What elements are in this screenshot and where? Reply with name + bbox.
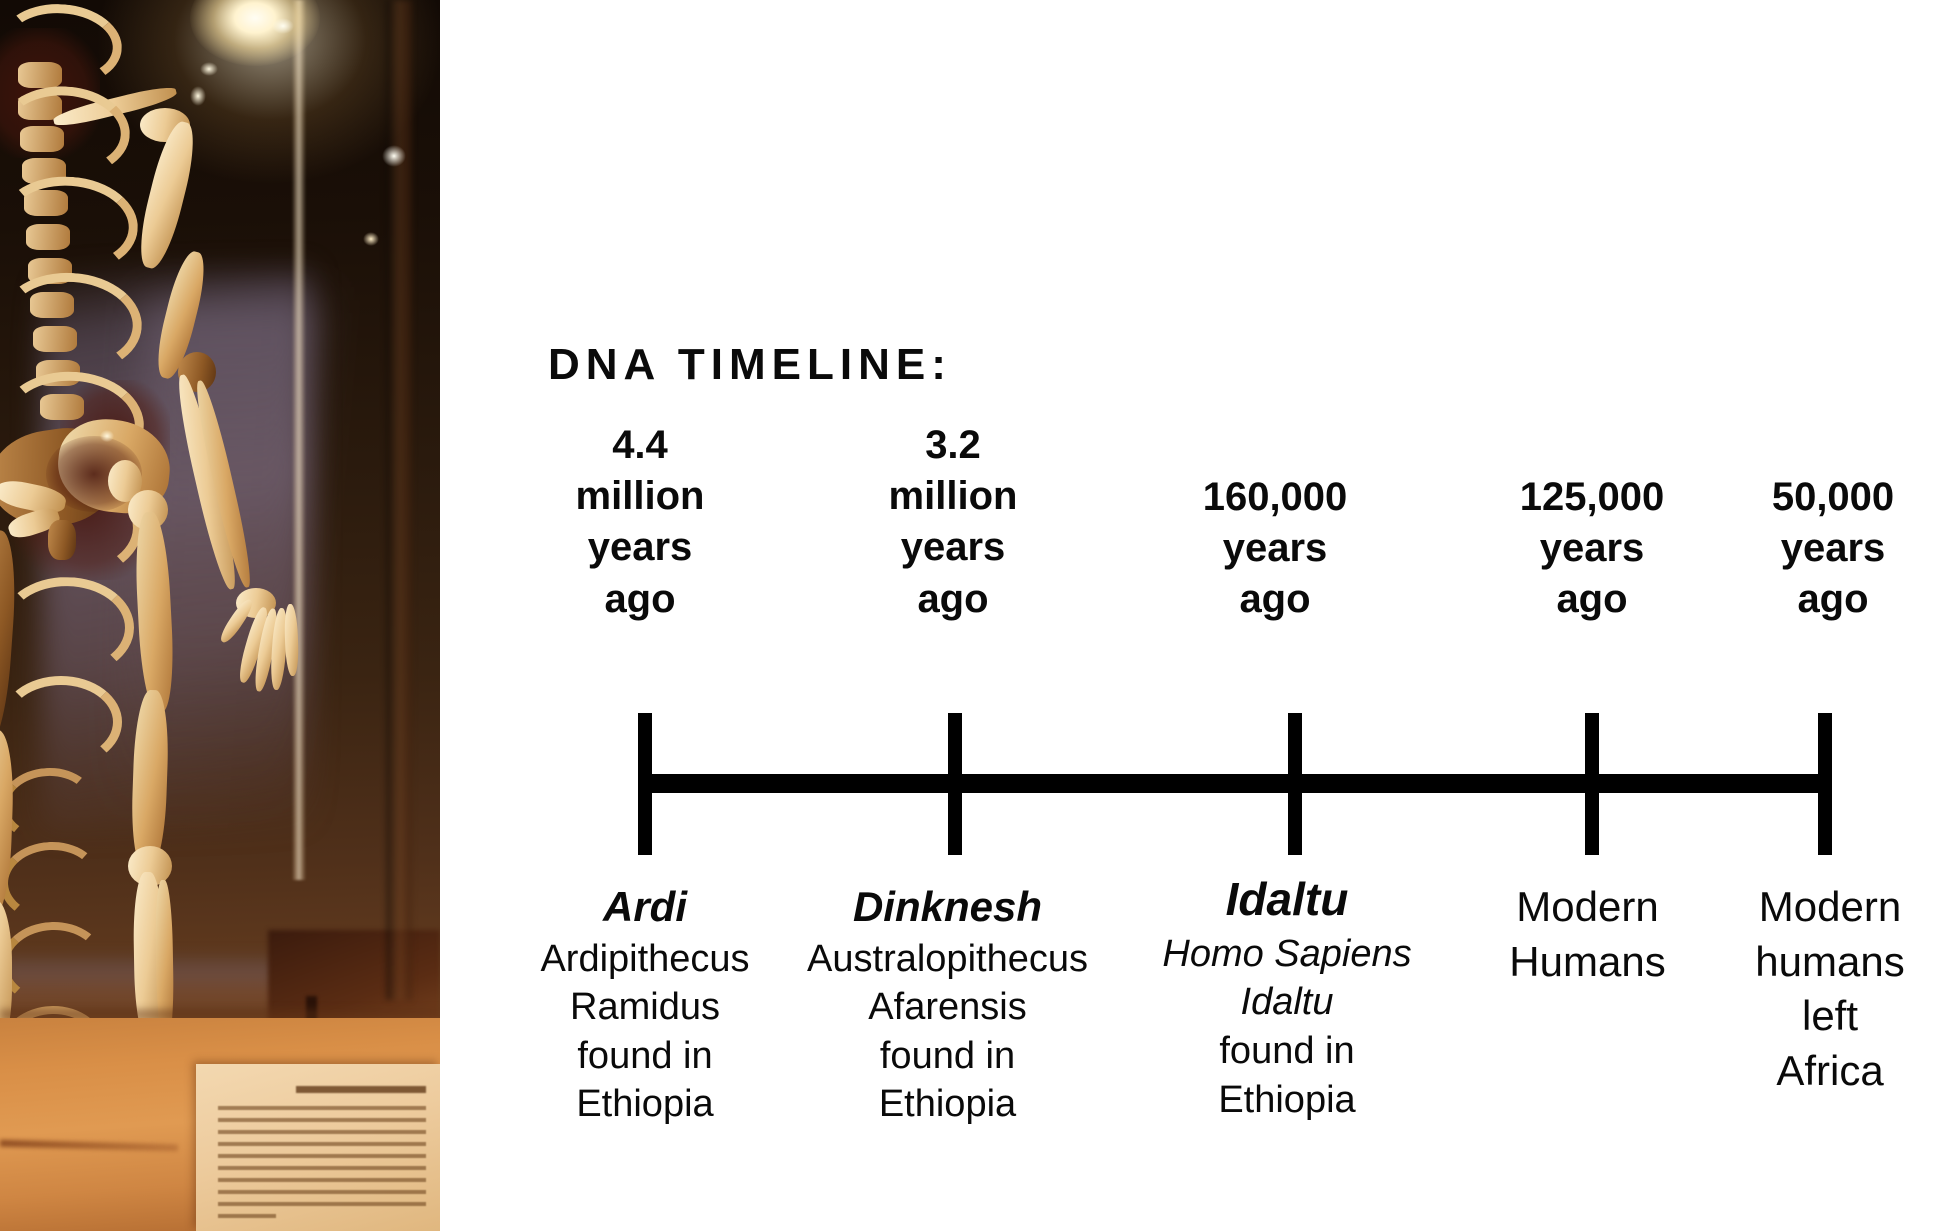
rib-left — [0, 765, 98, 846]
glass-glare-spot — [382, 145, 406, 167]
timeline-axis — [645, 774, 1825, 793]
entry-description-scientific: Homo Sapiens Idaltu — [1132, 930, 1442, 1027]
entry-name: Idaltu — [1132, 870, 1442, 930]
timeline-entry-5: Modern humans left Africa — [1712, 880, 1948, 1098]
entry-description: Ardipithecus Ramidus found in Ethiopia — [490, 935, 800, 1130]
placard-text-line — [218, 1214, 276, 1218]
timeline-content: DNA TIMELINE: 4.4 million years ago 3.2 … — [440, 0, 1958, 1231]
timeline-entry-4: Modern Humans — [1470, 880, 1705, 989]
sacrum — [48, 520, 76, 560]
placard-text-line — [218, 1142, 426, 1146]
placard-text-line — [218, 1154, 426, 1158]
skeleton-photograph — [0, 0, 440, 1231]
rib — [0, 172, 141, 277]
femur — [133, 511, 176, 712]
date-label-5: 50,000 years ago — [1708, 472, 1958, 626]
date-label-2: 3.2 million years ago — [853, 420, 1053, 625]
placard-text-line — [218, 1130, 426, 1134]
placard-text-line — [218, 1118, 426, 1122]
rib — [0, 82, 133, 181]
date-label-3: 160,000 years ago — [1145, 472, 1405, 626]
entry-description: found in Ethiopia — [1132, 1027, 1442, 1124]
glass-glare-spot — [100, 430, 114, 442]
timeline-entry-1: Ardi Ardipithecus Ramidus found in Ethio… — [490, 880, 800, 1129]
timeline-tick-4 — [1585, 713, 1599, 855]
entry-name: Ardi — [490, 880, 800, 935]
timeline-tick-1 — [638, 713, 652, 855]
rib — [0, 676, 122, 768]
placard-text-line — [218, 1166, 426, 1170]
glass-glare-spot — [190, 86, 206, 106]
glass-glare-spot — [200, 62, 218, 76]
page-title: DNA TIMELINE: — [548, 340, 952, 390]
entry-description: Australopithecus Afarensis found in Ethi… — [775, 935, 1120, 1130]
placard-title-line — [296, 1086, 426, 1093]
museum-placard — [196, 1064, 440, 1231]
rib — [0, 576, 135, 678]
rib-left — [0, 839, 104, 924]
rib — [0, 268, 145, 378]
entry-name: Dinknesh — [775, 880, 1120, 935]
placard-text-line — [218, 1106, 426, 1110]
timeline-tick-2 — [948, 713, 962, 855]
finger-bone — [284, 604, 300, 676]
timeline-tick-5 — [1818, 713, 1832, 855]
rib-left — [0, 920, 107, 1008]
placard-text-line — [218, 1190, 426, 1194]
entry-description: humans left Africa — [1712, 935, 1948, 1099]
entry-description: Humans — [1470, 935, 1705, 990]
glass-glare-spot — [363, 232, 379, 246]
infographic-canvas: DNA TIMELINE: 4.4 million years ago 3.2 … — [0, 0, 1958, 1231]
entry-name: Modern — [1470, 880, 1705, 935]
glass-glare-spot — [272, 18, 294, 34]
date-label-1: 4.4 million years ago — [540, 420, 740, 625]
placard-text-line — [218, 1202, 426, 1206]
date-label-4: 125,000 years ago — [1462, 472, 1722, 626]
timeline-entry-2: Dinknesh Australopithecus Afarensis foun… — [775, 880, 1120, 1129]
humerus — [132, 118, 201, 272]
femur-lower — [130, 689, 170, 870]
timeline-entry-3: Idaltu Homo Sapiens Idaltu found in Ethi… — [1132, 870, 1442, 1124]
entry-name: Modern — [1712, 880, 1948, 935]
placard-text-line — [218, 1178, 426, 1182]
timeline-tick-3 — [1288, 713, 1302, 855]
